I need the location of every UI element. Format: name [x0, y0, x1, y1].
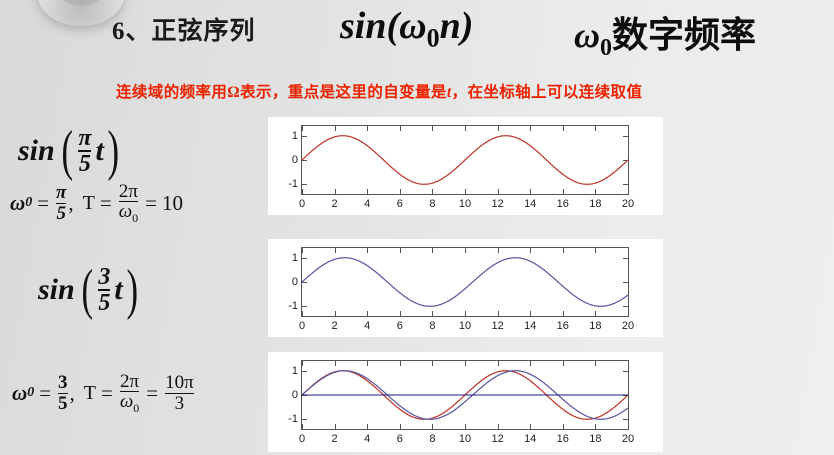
equation-params-1: ω0 = π 5 , T = 2π ω0 = 10 [10, 182, 183, 224]
eq1p-omega-sub: 0 [25, 195, 32, 211]
y-tick-label: -1 [278, 413, 298, 425]
eq2-paren-open: ( [81, 269, 93, 313]
main-formula-annotation: ω0数字频率 [574, 6, 756, 62]
eq2p-T-value-fraction: 10π 3 [165, 373, 194, 413]
x-tick-label: 6 [397, 433, 403, 445]
eq2-numerator: 3 [98, 265, 110, 289]
eq1-fraction: π 5 [78, 126, 91, 177]
series-path [302, 136, 628, 185]
x-tick-label: 10 [459, 198, 471, 210]
equation-block-2: sin ( 3 5 t ) [38, 265, 141, 316]
x-tick-label: 6 [397, 320, 403, 332]
eq2-function-name: sin [38, 273, 75, 307]
eq2p-T-value-num: 10π [165, 373, 194, 392]
chart-panel-3: 02468101214161820-101 [268, 352, 663, 452]
eq2-fraction: 3 5 [98, 265, 110, 316]
red-note-part-b: ，在坐标轴上可以连续取值 [452, 84, 643, 101]
omega-symbol: ω [574, 15, 600, 55]
eq1p-equals-2: = [100, 191, 112, 216]
plot-area-1: 02468101214161820-101 [301, 125, 629, 195]
x-tick-label: 0 [299, 320, 305, 332]
red-note-part-a: 连续域的频率用Ω表示，重点是这里的自变量是 [116, 84, 447, 101]
x-tick-top [628, 248, 629, 253]
y-tick-label: 0 [278, 389, 298, 401]
chart-panel-2: 02468101214161820-101 [268, 239, 663, 337]
y-tick-label: -1 [278, 178, 298, 190]
eq2p-T-den: ω0 [120, 391, 139, 414]
eq2p-omega-num: 3 [58, 373, 68, 392]
x-tick-bottom [628, 311, 629, 316]
eq2p-equals-3: = [146, 381, 158, 406]
x-tick-label: 12 [491, 433, 503, 445]
x-tick-label: 20 [622, 433, 634, 445]
curve-layer [302, 361, 628, 429]
main-formula: sin(ω0n) [340, 4, 473, 54]
eq1p-T-den-omega: ω [119, 201, 132, 222]
x-tick-label: 20 [622, 320, 634, 332]
eq1p-T-den: ω0 [119, 201, 138, 224]
eq2p-comma: , [70, 381, 75, 406]
series-path [302, 258, 628, 307]
eq1p-equals: = [37, 191, 49, 216]
eq1p-omega: ω [10, 191, 25, 216]
x-tick-label: 4 [364, 433, 370, 445]
x-tick-label: 18 [589, 433, 601, 445]
eq1p-comma: , [68, 191, 73, 216]
curve-layer [302, 126, 628, 194]
equation-params-2: ω0 = 3 5 , T = 2π ω0 = 10π 3 [12, 372, 196, 414]
x-tick-label: 18 [589, 198, 601, 210]
y-tick-label: -1 [278, 300, 298, 312]
eq2-denominator: 5 [98, 289, 110, 315]
x-tick-top [628, 126, 629, 131]
section-title: 6、正弦序列 [112, 11, 256, 47]
eq2p-omega: ω [12, 381, 27, 406]
omega-subscript: 0 [600, 35, 612, 61]
eq1p-T-value: 10 [162, 191, 183, 216]
x-tick-label: 2 [332, 433, 338, 445]
x-tick-bottom [628, 424, 629, 429]
eq2-variable: t [114, 273, 122, 307]
eq1p-omega-den: 5 [56, 203, 66, 223]
eq2p-omega-den: 5 [58, 393, 68, 413]
x-tick-label: 12 [491, 320, 503, 332]
eq1-function-name: sin [18, 134, 55, 168]
eq2p-T-value-den: 3 [165, 393, 194, 413]
x-tick-label: 8 [429, 198, 435, 210]
eq2p-T-num: 2π [120, 372, 139, 391]
curve-layer [302, 248, 628, 316]
eq1p-omega-num: π [56, 183, 66, 202]
x-tick-label: 16 [557, 320, 569, 332]
x-tick-label: 16 [557, 433, 569, 445]
x-tick-label: 4 [364, 198, 370, 210]
eq2p-T-fraction: 2π ω0 [120, 372, 139, 414]
red-note: 连续域的频率用Ω表示，重点是这里的自变量是t，在坐标轴上可以连续取值 [116, 80, 642, 102]
eq1p-T-fraction: 2π ω0 [119, 182, 138, 224]
x-tick-label: 20 [622, 198, 634, 210]
x-tick-label: 8 [429, 320, 435, 332]
eq1-numerator: π [78, 126, 91, 150]
eq2p-equals-2: = [101, 381, 113, 406]
main-formula-subscript: 0 [427, 24, 440, 53]
plot-area-3: 02468101214161820-101 [301, 360, 629, 430]
x-tick-label: 18 [589, 320, 601, 332]
eq2p-T-den-sub: 0 [133, 401, 139, 415]
x-tick-label: 14 [524, 198, 536, 210]
x-tick-label: 0 [299, 433, 305, 445]
main-formula-base: sin(ω [340, 5, 427, 47]
x-tick-label: 6 [397, 198, 403, 210]
eq1p-T-den-sub: 0 [132, 211, 138, 225]
x-tick-label: 10 [459, 320, 471, 332]
x-tick-top [628, 361, 629, 366]
eq1p-T: T [83, 192, 95, 215]
x-tick-label: 4 [364, 320, 370, 332]
eq2-paren-close: ) [126, 269, 138, 313]
eq1p-equals-3: = [145, 191, 157, 216]
eq1-variable: t [95, 134, 103, 168]
eq2p-T-den-omega: ω [120, 391, 133, 412]
x-tick-label: 16 [557, 198, 569, 210]
eq1p-T-num: 2π [119, 182, 138, 201]
x-tick-label: 8 [429, 433, 435, 445]
plot-area-2: 02468101214161820-101 [301, 247, 629, 317]
eq2p-omega-fraction: 3 5 [58, 373, 68, 413]
eq1p-omega-fraction: π 5 [56, 183, 66, 223]
eq2p-equals: = [39, 381, 51, 406]
x-tick-label: 10 [459, 433, 471, 445]
equation-block-1: sin ( π 5 t ) [18, 126, 122, 177]
y-tick-label: 1 [278, 130, 298, 142]
y-tick-label: 0 [278, 154, 298, 166]
eq2p-T: T [84, 382, 96, 405]
slide-canvas: 6、正弦序列 sin(ω0n) ω0数字频率 连续域的频率用Ω表示，重点是这里的… [0, 0, 834, 455]
x-tick-label: 14 [524, 433, 536, 445]
chart-panel-1: 02468101214161820-101 [268, 117, 663, 215]
x-tick-label: 2 [332, 198, 338, 210]
y-tick-label: 1 [278, 365, 298, 377]
x-tick-label: 12 [491, 198, 503, 210]
eq1-paren-close: ) [107, 130, 119, 174]
eq1-denominator: 5 [78, 150, 91, 176]
eq2p-omega-sub: 0 [27, 385, 34, 401]
y-tick-label: 1 [278, 252, 298, 264]
eq1-paren-open: ( [61, 130, 73, 174]
x-tick-label: 0 [299, 198, 305, 210]
y-tick-label: 0 [278, 276, 298, 288]
main-formula-tail: n) [440, 5, 474, 47]
x-tick-label: 2 [332, 320, 338, 332]
x-tick-bottom [628, 189, 629, 194]
x-tick-label: 14 [524, 320, 536, 332]
annotation-text: 数字频率 [612, 15, 756, 55]
